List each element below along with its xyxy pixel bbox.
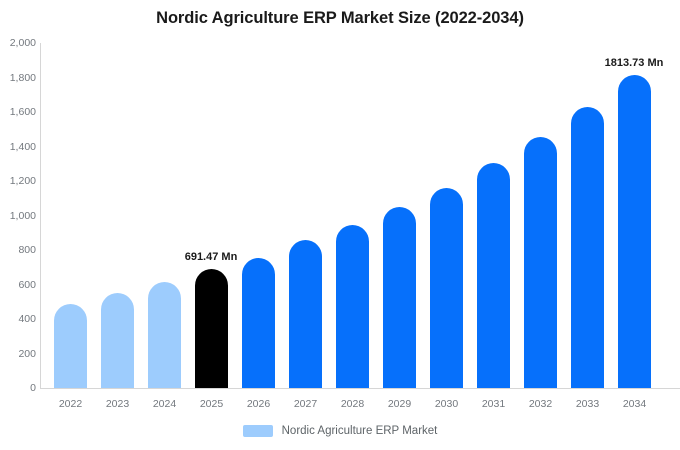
bar[interactable] [289,240,322,388]
x-axis-tick-label: 2023 [94,398,141,410]
y-axis-tick-label: 1,000 [2,210,36,222]
bar[interactable] [54,304,87,388]
y-axis-tick-label: 1,600 [2,106,36,118]
legend-item-nordic-agriculture-erp-market[interactable]: Nordic Agriculture ERP Market [243,425,438,437]
x-axis-tick-label: 2024 [141,398,188,410]
x-axis-tick-label: 2022 [47,398,94,410]
bar-slot [282,43,329,388]
bar[interactable] [101,293,134,388]
x-axis-tick-label: 2025 [188,398,235,410]
x-axis-tick-label: 2026 [235,398,282,410]
bar-slot [235,43,282,388]
bar-slot [329,43,376,388]
bar-value-label: 1813.73 Mn [605,57,664,69]
bar[interactable] [195,269,228,388]
bar-value-label: 691.47 Mn [185,251,238,263]
bar[interactable] [430,188,463,388]
y-axis-tick-label: 400 [2,313,36,325]
bar-chart: Nordic Agriculture ERP Market Size (2022… [0,0,680,450]
bar[interactable] [477,163,510,388]
bar[interactable] [336,225,369,388]
bar-slot [94,43,141,388]
y-axis-tick-label: 800 [2,244,36,256]
bar[interactable] [383,207,416,388]
bars-container: 691.47 Mn1813.73 Mn [40,43,680,388]
legend-label: Nordic Agriculture ERP Market [282,425,438,437]
bar[interactable] [618,75,651,388]
y-axis-tick-label: 0 [2,382,36,394]
bar-slot [376,43,423,388]
bar-slot [141,43,188,388]
bar-slot [564,43,611,388]
y-axis-tick-label: 1,400 [2,141,36,153]
x-axis-tick-label: 2031 [470,398,517,410]
bar-slot [611,43,658,388]
y-axis-tick-label: 600 [2,279,36,291]
bar-slot [470,43,517,388]
bar-slot [517,43,564,388]
x-axis-tick-label: 2028 [329,398,376,410]
x-axis-tick-label: 2034 [611,398,658,410]
legend-swatch-icon [243,425,273,437]
x-axis-tick-label: 2030 [423,398,470,410]
bar-slot [188,43,235,388]
y-axis-tick-label: 1,800 [2,72,36,84]
chart-legend: Nordic Agriculture ERP Market [0,425,680,437]
bar[interactable] [571,107,604,388]
x-axis-tick-labels: 2022202320242025202620272028202920302031… [40,398,680,418]
y-axis-tick-label: 1,200 [2,175,36,187]
y-axis-tick-labels: 02004006008001,0001,2001,4001,6001,8002,… [0,0,36,450]
x-axis-tick-label: 2027 [282,398,329,410]
y-axis-tick-label: 2,000 [2,37,36,49]
x-axis-tick-label: 2032 [517,398,564,410]
bar[interactable] [148,282,181,388]
bar[interactable] [242,258,275,388]
chart-title: Nordic Agriculture ERP Market Size (2022… [0,9,680,28]
x-axis-tick-label: 2033 [564,398,611,410]
bar-slot [47,43,94,388]
bar[interactable] [524,137,557,388]
bar-slot [423,43,470,388]
x-axis-tick-label: 2029 [376,398,423,410]
x-axis-line [40,388,680,389]
y-axis-tick-label: 200 [2,348,36,360]
